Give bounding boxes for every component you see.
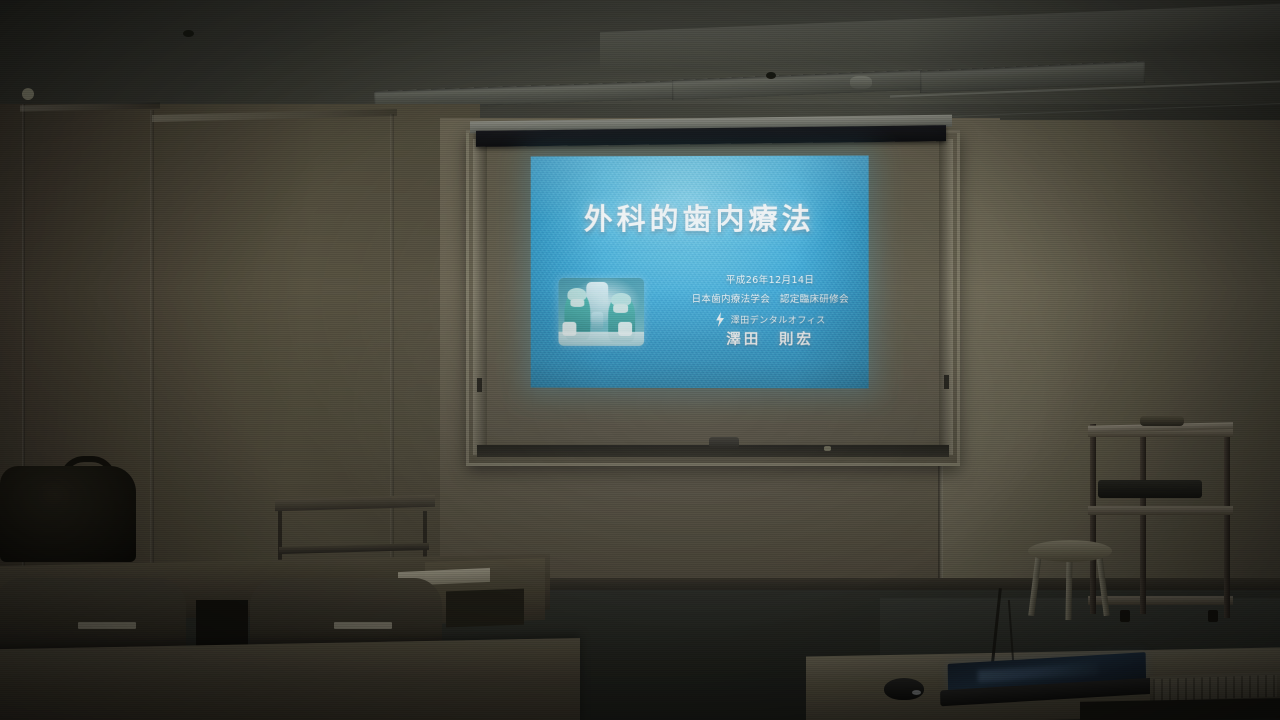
board-rail-right [939, 139, 953, 455]
cart-post [1224, 426, 1230, 618]
board-rail-left [473, 139, 487, 455]
side-table-top [275, 495, 435, 511]
stool-seat [1028, 540, 1112, 562]
projection-screen: 外科的歯内療法 平成26年12月14日 日本歯内療法学会 認定臨床研修会 澤田デ… [531, 156, 869, 389]
desk-front-row [0, 638, 580, 720]
chair-label [78, 622, 136, 629]
lecture-room-scene: 外科的歯内療法 平成26年12月14日 日本歯内療法学会 認定臨床研修会 澤田デ… [0, 0, 1280, 720]
board-rail-lock[interactable] [477, 378, 482, 392]
round-stool [1028, 540, 1112, 618]
tray-clip [824, 446, 831, 451]
chair-label [334, 622, 392, 629]
laptop-screen-glow [978, 663, 1098, 682]
chair-right [250, 578, 442, 650]
wall-pillar-seam [150, 110, 154, 580]
cart-caster [1208, 610, 1218, 622]
cart-top-item [1140, 416, 1184, 426]
cart-post [1140, 428, 1146, 614]
stool-leg [1096, 554, 1110, 616]
chair-left [0, 578, 186, 650]
black-bag [0, 466, 136, 562]
board-eraser[interactable] [709, 437, 739, 448]
side-table-leg [278, 507, 282, 567]
side-table-shelf [279, 543, 429, 554]
cart-stored-item [1098, 480, 1202, 498]
ceiling-sensor [183, 30, 194, 37]
stool-leg [1028, 554, 1042, 616]
smoke-detector-icon [850, 76, 872, 89]
ceiling-sensor [766, 72, 776, 79]
mouse-highlight [912, 690, 921, 695]
keyboard-keys [1153, 675, 1277, 701]
board-rail-lock[interactable] [944, 375, 949, 389]
stool-leg [1065, 558, 1072, 620]
usb-mouse[interactable] [884, 678, 924, 700]
cart-shelf-middle [1088, 506, 1233, 515]
screen-vignette [531, 156, 869, 389]
cart-caster [1120, 610, 1130, 622]
desk-modesty-panel [446, 589, 524, 628]
operator-table-shadow [1080, 698, 1280, 720]
wall-fixture-knob [22, 88, 34, 100]
